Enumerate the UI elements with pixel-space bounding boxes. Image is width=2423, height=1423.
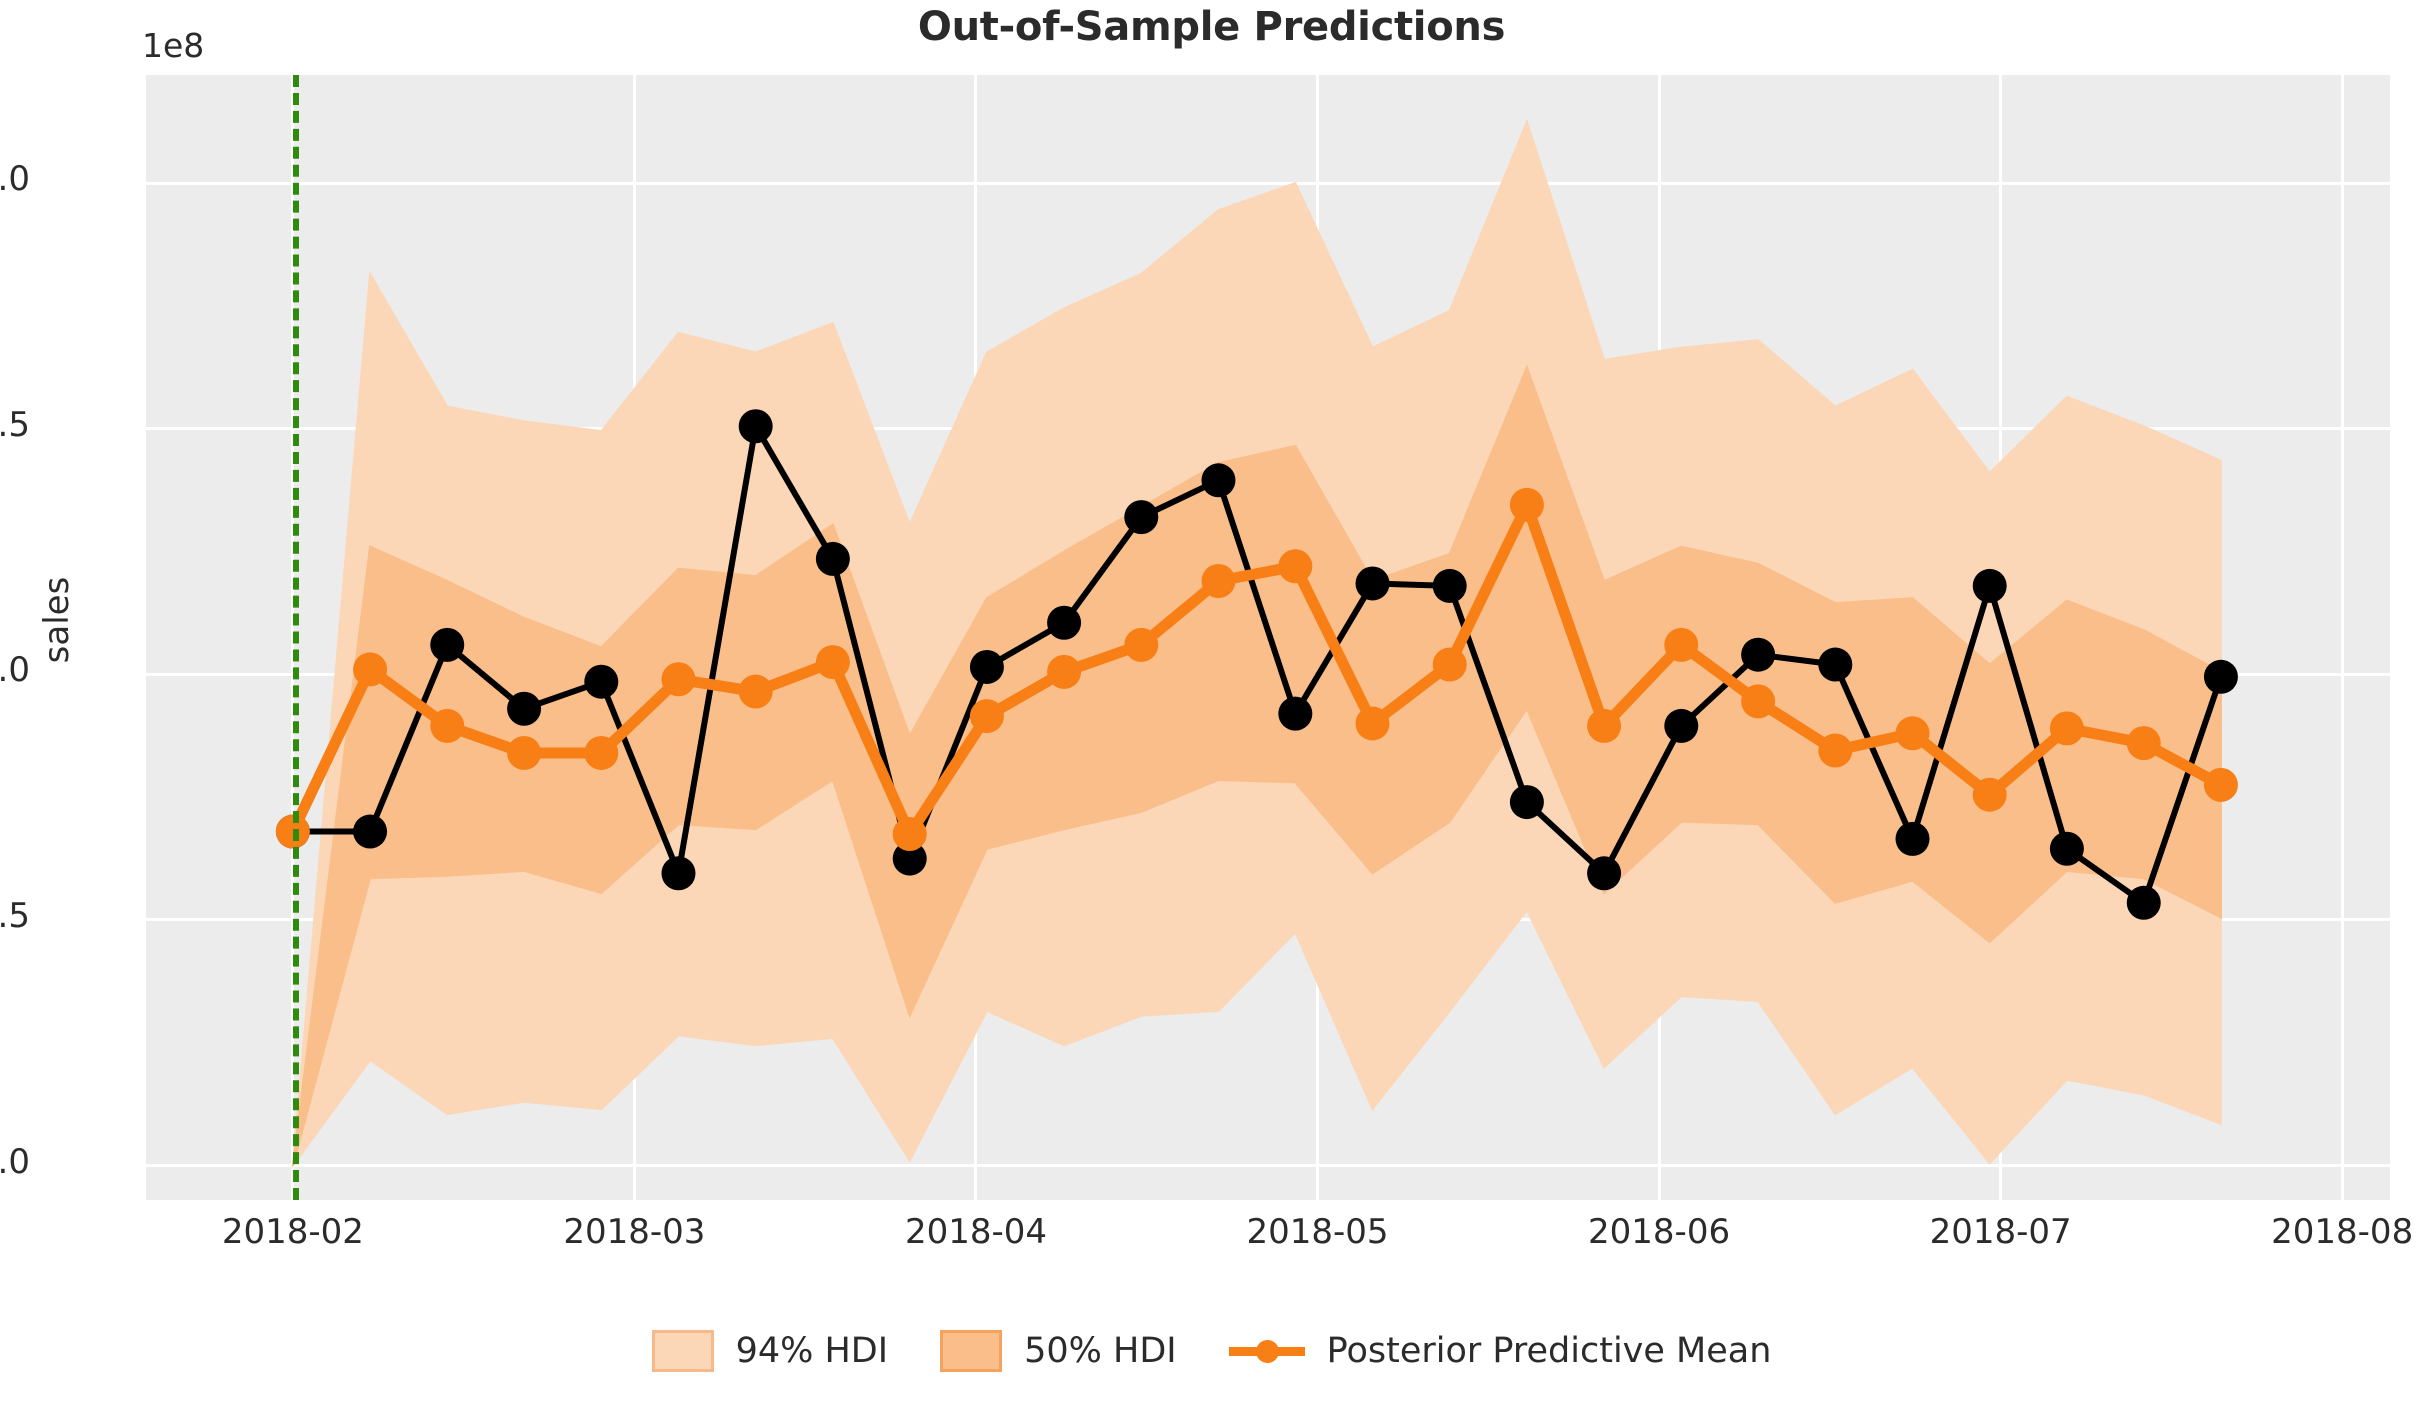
y-axis-tick-label: 0.0 [0, 1142, 30, 1182]
data-point-marker [1587, 709, 1621, 743]
y-axis-offset-label: 1e8 [142, 26, 204, 65]
chart-legend: 94% HDI50% HDIPosterior Predictive Mean [0, 1330, 2423, 1372]
y-axis-tick-label: 1.5 [0, 405, 30, 445]
data-point-marker [970, 650, 1004, 684]
data-point-marker [1201, 564, 1235, 598]
x-axis-tick-label: 2018-05 [1246, 1212, 1388, 1252]
x-axis-tick-label: 2018-08 [2271, 1212, 2413, 1252]
legend-dot-marker [1256, 1340, 1279, 1363]
data-point-marker [816, 645, 850, 679]
data-point-marker [1741, 684, 1775, 718]
data-point-marker [1278, 697, 1312, 731]
data-point-marker [353, 652, 387, 686]
data-point-marker [1433, 648, 1467, 682]
data-point-marker [816, 542, 850, 576]
data-point-marker [739, 409, 773, 443]
data-point-marker [739, 675, 773, 709]
data-point-marker [2204, 660, 2238, 694]
data-point-marker [1356, 566, 1390, 600]
legend-entry[interactable]: Posterior Predictive Mean [1229, 1331, 1772, 1371]
data-point-marker [1510, 785, 1544, 819]
data-point-marker [1356, 706, 1390, 740]
data-point-marker [1818, 733, 1852, 767]
legend-color-swatch [652, 1330, 714, 1372]
data-point-marker [1973, 569, 2007, 603]
data-point-marker [1664, 709, 1698, 743]
data-point-marker [1047, 655, 1081, 689]
y-axis-tick-label: 2.0 [0, 159, 30, 199]
legend-entry[interactable]: 94% HDI [652, 1330, 889, 1372]
data-point-marker [584, 736, 618, 770]
data-point-marker [1124, 628, 1158, 662]
legend-label: 94% HDI [736, 1331, 889, 1371]
series-line [293, 426, 2221, 903]
data-point-marker [1664, 628, 1698, 662]
train-test-split-vline [293, 75, 299, 1200]
data-point-marker [661, 662, 695, 696]
legend-label: Posterior Predictive Mean [1327, 1331, 1772, 1371]
legend-line-marker [1229, 1333, 1305, 1369]
data-point-marker [1047, 606, 1081, 640]
data-point-marker [2127, 726, 2161, 760]
chart-figure: Out-of-Sample Predictions 1e8 sales 0.00… [0, 0, 2423, 1423]
data-point-marker [1510, 488, 1544, 522]
data-point-marker [1896, 716, 1930, 750]
x-axis-tick-label: 2018-02 [222, 1212, 364, 1252]
data-point-marker [2127, 886, 2161, 920]
data-point-marker [430, 628, 464, 662]
data-point-marker [1818, 648, 1852, 682]
data-point-marker [1124, 500, 1158, 534]
plot-area [146, 75, 2390, 1200]
x-axis-tick-label: 2018-03 [563, 1212, 705, 1252]
series-layer [146, 75, 2390, 1200]
data-point-marker [1278, 549, 1312, 583]
data-point-marker [1433, 569, 1467, 603]
data-point-marker [2050, 832, 2084, 866]
data-point-marker [970, 699, 1004, 733]
x-axis-tick-label: 2018-07 [1930, 1212, 2072, 1252]
data-point-marker [507, 692, 541, 726]
data-point-marker [1741, 638, 1775, 672]
data-point-marker [1201, 463, 1235, 497]
data-point-marker [1896, 822, 1930, 856]
page-title: Out-of-Sample Predictions [0, 4, 2423, 50]
data-point-marker [2050, 711, 2084, 745]
data-point-marker [353, 815, 387, 849]
y-axis-label: sales [37, 530, 77, 710]
data-point-marker [430, 709, 464, 743]
legend-label: 50% HDI [1024, 1331, 1177, 1371]
data-point-marker [893, 817, 927, 851]
y-axis-tick-label: 1.0 [0, 650, 30, 690]
x-axis-tick-label: 2018-04 [905, 1212, 1047, 1252]
y-axis-tick-label: 0.5 [0, 896, 30, 936]
data-point-marker [2204, 768, 2238, 802]
data-point-marker [584, 665, 618, 699]
data-point-marker [661, 856, 695, 890]
legend-entry[interactable]: 50% HDI [940, 1330, 1177, 1372]
legend-color-swatch [940, 1330, 1002, 1372]
data-point-marker [507, 736, 541, 770]
x-axis-tick-label: 2018-06 [1588, 1212, 1730, 1252]
data-point-marker [1587, 856, 1621, 890]
data-point-marker [1973, 778, 2007, 812]
